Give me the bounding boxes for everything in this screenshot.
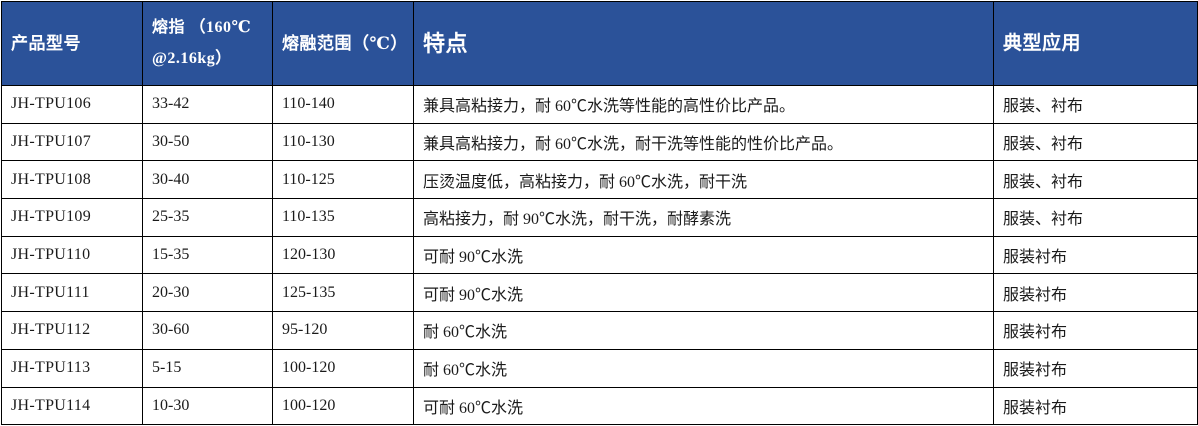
product-spec-table: 产品型号 熔指 （160℃ @2.16kg） 熔融范围（℃） 特点 典型应用 J…	[1, 1, 1198, 425]
cell-applications-text: 服装衬布	[994, 356, 1197, 380]
cell-product-model: JH-TPU109	[2, 199, 143, 237]
cell-product-model-text: JH-TPU110	[2, 246, 142, 264]
cell-product-model-text: JH-TPU113	[2, 359, 142, 377]
cell-applications-text: 服装、衬布	[994, 168, 1197, 192]
table-row: JH-TPU11410-30100-120可耐 60℃水洗服装衬布	[2, 387, 1198, 425]
table-row: JH-TPU10830-40110-125压烫温度低，高粘接力，耐 60℃水洗，…	[2, 161, 1198, 199]
cell-melting-range-text: 100-120	[273, 359, 413, 377]
cell-melting-range-text: 110-140	[273, 95, 413, 113]
cell-melt-index-text: 5-15	[143, 359, 272, 377]
cell-melting-range-text: 95-120	[273, 321, 413, 339]
cell-product-model: JH-TPU110	[2, 236, 143, 274]
cell-features-text: 高粘接力，耐 90℃水洗，耐干洗，耐酵素洗	[414, 205, 993, 229]
table-row: JH-TPU11120-30125-135可耐 90℃水洗服装衬布	[2, 274, 1198, 312]
cell-applications: 服装衬布	[994, 312, 1198, 350]
cell-melting-range-text: 125-135	[273, 284, 413, 302]
cell-melting-range: 110-135	[273, 199, 414, 237]
cell-product-model: JH-TPU106	[2, 86, 143, 124]
cell-melt-index: 5-15	[143, 349, 273, 387]
cell-features: 压烫温度低，高粘接力，耐 60℃水洗，耐干洗	[414, 161, 994, 199]
cell-melting-range: 100-120	[273, 349, 414, 387]
cell-applications-text: 服装衬布	[994, 394, 1197, 418]
cell-features-text: 耐 60℃水洗	[414, 318, 993, 342]
cell-features: 可耐 90℃水洗	[414, 274, 994, 312]
cell-applications: 服装衬布	[994, 274, 1198, 312]
cell-applications: 服装衬布	[994, 236, 1198, 274]
cell-features: 兼具高粘接力，耐 60℃水洗，耐干洗等性能的性价比产品。	[414, 123, 994, 161]
cell-features: 可耐 60℃水洗	[414, 387, 994, 425]
cell-applications-text: 服装衬布	[994, 318, 1197, 342]
cell-melt-index-text: 20-30	[143, 284, 272, 302]
cell-features-text: 压烫温度低，高粘接力，耐 60℃水洗，耐干洗	[414, 168, 993, 192]
column-header-features: 特点	[414, 2, 994, 86]
cell-features: 高粘接力，耐 90℃水洗，耐干洗，耐酵素洗	[414, 199, 994, 237]
table-row: JH-TPU11230-6095-120耐 60℃水洗服装衬布	[2, 312, 1198, 350]
cell-melt-index: 30-40	[143, 161, 273, 199]
cell-melt-index: 33-42	[143, 86, 273, 124]
table-row: JH-TPU10925-35110-135高粘接力，耐 90℃水洗，耐干洗，耐酵…	[2, 199, 1198, 237]
cell-product-model-text: JH-TPU109	[2, 208, 142, 226]
column-header-applications-label: 典型应用	[994, 34, 1197, 54]
cell-features-text: 兼具高粘接力，耐 60℃水洗，耐干洗等性能的性价比产品。	[414, 130, 993, 154]
cell-melting-range: 110-140	[273, 86, 414, 124]
header-row: 产品型号 熔指 （160℃ @2.16kg） 熔融范围（℃） 特点 典型应用	[2, 2, 1198, 86]
cell-melt-index-text: 33-42	[143, 95, 272, 113]
cell-applications-text: 服装、衬布	[994, 130, 1197, 154]
cell-applications: 服装、衬布	[994, 161, 1198, 199]
melt-index-label-line2: @2.16kg）	[152, 44, 263, 74]
table-body: JH-TPU10633-42110-140兼具高粘接力，耐 60℃水洗等性能的高…	[2, 86, 1198, 425]
cell-features: 兼具高粘接力，耐 60℃水洗等性能的高性价比产品。	[414, 86, 994, 124]
table-row: JH-TPU10730-50110-130兼具高粘接力，耐 60℃水洗，耐干洗等…	[2, 123, 1198, 161]
cell-melt-index: 20-30	[143, 274, 273, 312]
cell-applications-text: 服装、衬布	[994, 205, 1197, 229]
cell-applications: 服装、衬布	[994, 86, 1198, 124]
column-header-melting-range: 熔融范围（℃）	[273, 2, 414, 86]
cell-melting-range: 95-120	[273, 312, 414, 350]
cell-product-model: JH-TPU114	[2, 387, 143, 425]
cell-melt-index: 15-35	[143, 236, 273, 274]
cell-applications-text: 服装衬布	[994, 281, 1197, 305]
cell-features-text: 可耐 60℃水洗	[414, 394, 993, 418]
cell-melt-index: 25-35	[143, 199, 273, 237]
table-row: JH-TPU11015-35120-130可耐 90℃水洗服装衬布	[2, 236, 1198, 274]
cell-product-model: JH-TPU111	[2, 274, 143, 312]
cell-applications: 服装、衬布	[994, 199, 1198, 237]
cell-product-model-text: JH-TPU106	[2, 95, 142, 113]
cell-product-model: JH-TPU108	[2, 161, 143, 199]
cell-features: 耐 60℃水洗	[414, 349, 994, 387]
cell-melting-range: 125-135	[273, 274, 414, 312]
cell-melting-range-text: 110-135	[273, 208, 413, 226]
cell-melt-index-text: 30-60	[143, 321, 272, 339]
table-header: 产品型号 熔指 （160℃ @2.16kg） 熔融范围（℃） 特点 典型应用	[2, 2, 1198, 86]
cell-features-text: 可耐 90℃水洗	[414, 281, 993, 305]
cell-product-model-text: JH-TPU107	[2, 133, 142, 151]
cell-melting-range: 110-130	[273, 123, 414, 161]
cell-product-model: JH-TPU107	[2, 123, 143, 161]
cell-features: 可耐 90℃水洗	[414, 236, 994, 274]
cell-melt-index: 30-50	[143, 123, 273, 161]
column-header-model-label: 产品型号	[2, 35, 142, 53]
column-header-features-label: 特点	[414, 32, 993, 55]
cell-melt-index: 10-30	[143, 387, 273, 425]
cell-melt-index: 30-60	[143, 312, 273, 350]
table-row: JH-TPU10633-42110-140兼具高粘接力，耐 60℃水洗等性能的高…	[2, 86, 1198, 124]
cell-applications-text: 服装、衬布	[994, 92, 1197, 116]
cell-melting-range-text: 100-120	[273, 397, 413, 415]
cell-melting-range-text: 110-125	[273, 171, 413, 189]
cell-product-model-text: JH-TPU111	[2, 284, 142, 302]
cell-features-text: 兼具高粘接力，耐 60℃水洗等性能的高性价比产品。	[414, 92, 993, 116]
cell-melting-range-text: 110-130	[273, 133, 413, 151]
cell-melting-range: 110-125	[273, 161, 414, 199]
cell-applications: 服装衬布	[994, 349, 1198, 387]
cell-product-model: JH-TPU112	[2, 312, 143, 350]
cell-melt-index-text: 25-35	[143, 208, 272, 226]
cell-product-model: JH-TPU113	[2, 349, 143, 387]
cell-melt-index-text: 30-50	[143, 133, 272, 151]
cell-features: 耐 60℃水洗	[414, 312, 994, 350]
cell-melt-index-text: 10-30	[143, 397, 272, 415]
melt-index-label-line1: 熔指 （160℃	[152, 19, 251, 36]
cell-applications: 服装、衬布	[994, 123, 1198, 161]
cell-applications-text: 服装衬布	[994, 243, 1197, 267]
cell-melting-range: 120-130	[273, 236, 414, 274]
column-header-model: 产品型号	[2, 2, 143, 86]
table-row: JH-TPU1135-15100-120耐 60℃水洗服装衬布	[2, 349, 1198, 387]
cell-applications: 服装衬布	[994, 387, 1198, 425]
cell-product-model-text: JH-TPU112	[2, 321, 142, 339]
cell-features-text: 可耐 90℃水洗	[414, 243, 993, 267]
cell-melt-index-text: 15-35	[143, 246, 272, 264]
cell-melt-index-text: 30-40	[143, 171, 272, 189]
cell-features-text: 耐 60℃水洗	[414, 356, 993, 380]
column-header-applications: 典型应用	[994, 2, 1198, 86]
column-header-melt-index-label: 熔指 （160℃ @2.16kg）	[143, 13, 272, 74]
cell-melting-range-text: 120-130	[273, 246, 413, 264]
cell-product-model-text: JH-TPU114	[2, 397, 142, 415]
column-header-melting-range-label: 熔融范围（℃）	[273, 35, 413, 53]
column-header-melt-index: 熔指 （160℃ @2.16kg）	[143, 2, 273, 86]
cell-product-model-text: JH-TPU108	[2, 171, 142, 189]
cell-melting-range: 100-120	[273, 387, 414, 425]
